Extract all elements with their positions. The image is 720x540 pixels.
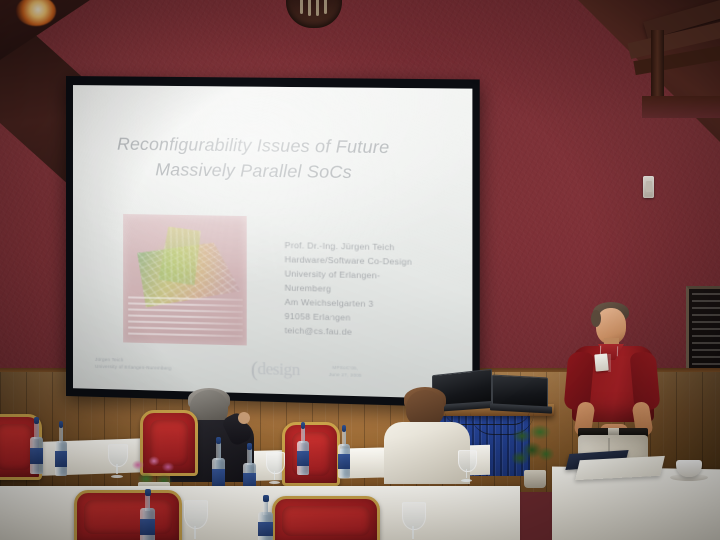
water-bottle-1[interactable] — [30, 420, 43, 474]
wine-glass-front-2[interactable] — [402, 502, 424, 540]
wine-glass-2[interactable] — [266, 452, 283, 484]
bottle-label — [297, 451, 309, 466]
glass-stem — [116, 464, 118, 474]
figure-caption-lines — [128, 296, 243, 341]
water-bottle-2[interactable] — [55, 424, 67, 476]
bottle-label — [55, 451, 67, 467]
glass-bowl — [458, 450, 477, 472]
logo-text: design — [257, 359, 299, 379]
glass-foot — [111, 475, 123, 478]
water-bottle-front-2[interactable] — [258, 498, 273, 540]
plant-pot — [524, 470, 546, 488]
chair-back — [74, 490, 182, 540]
glass-foot — [269, 481, 280, 484]
footer-date: June 27, 2005 — [329, 371, 362, 379]
light-switch-icon[interactable] — [643, 176, 654, 198]
slide-title-line-1: Reconfigurability Issues of Future — [117, 134, 389, 158]
wall-notch-right — [642, 96, 720, 118]
glass-stem — [466, 469, 468, 479]
conference-room-photo: Reconfigurability Issues of Future Massi… — [0, 0, 720, 540]
slide-figure — [123, 214, 247, 346]
bottle-label — [338, 454, 350, 469]
presenter-info-line: teich@cs.fau.de — [285, 324, 452, 342]
chair-pad — [84, 500, 172, 534]
wine-glass-front-1[interactable] — [184, 500, 206, 540]
slide-presenter-info: Prof. Dr.-Ing. Jürgen Teich Hardware/Sof… — [285, 239, 452, 342]
slide-footer: Jürgen Teich University of Erlangen-Nure… — [73, 354, 472, 391]
wine-glass-3[interactable] — [458, 450, 475, 482]
logo-paren: ( — [251, 357, 258, 381]
chair-back — [282, 422, 340, 486]
name-badge — [594, 353, 608, 371]
bottle-label — [258, 522, 273, 536]
chair-back-3[interactable] — [282, 422, 340, 486]
bottle-label — [30, 448, 43, 464]
bottle-cap — [216, 437, 221, 444]
slide-footer-right: MPSoC'05, June 27, 2005 — [329, 364, 362, 379]
presenter-hair-side — [591, 310, 601, 327]
glass-bowl — [266, 452, 285, 474]
water-bottle-front-1[interactable] — [140, 492, 155, 540]
bottle-cap — [59, 421, 64, 428]
slide-title-line-2: Massively Parallel SoCs — [117, 157, 445, 187]
chair-front-1[interactable] — [74, 490, 182, 540]
water-bottle-6[interactable] — [338, 428, 350, 478]
water-bottle-5[interactable] — [297, 425, 309, 475]
chair-back — [272, 496, 380, 540]
slide-title: Reconfigurability Issues of Future Massi… — [117, 132, 445, 187]
bottle-cap — [342, 425, 347, 432]
bottle-cap — [34, 417, 39, 424]
projection-screen: Reconfigurability Issues of Future Massi… — [66, 76, 480, 408]
glass-stem — [274, 471, 276, 481]
footer-affiliation: University of Erlangen-Nuremberg — [95, 364, 171, 373]
glass-bowl — [108, 444, 128, 467]
bottle-cap — [145, 489, 151, 496]
bottle-cap — [247, 443, 252, 450]
bottle-cap — [301, 422, 306, 429]
wine-glass-1[interactable] — [108, 444, 126, 478]
figure-mesh-secondary — [158, 227, 200, 286]
audience-hand — [238, 412, 250, 424]
chair-pad — [0, 424, 32, 470]
chair-front-2[interactable] — [272, 496, 380, 540]
bottle-label — [140, 519, 155, 535]
chair-pad — [282, 506, 370, 536]
codesign-logo: (design — [251, 357, 300, 384]
bottle-label — [212, 469, 225, 486]
glass-stem — [194, 526, 196, 539]
slide-footer-left: Jürgen Teich University of Erlangen-Nure… — [95, 357, 171, 373]
glass-stem — [412, 526, 414, 539]
glass-foot — [461, 479, 472, 482]
projection-surface: Reconfigurability Issues of Future Massi… — [73, 85, 472, 399]
bottle-cap — [263, 495, 269, 502]
